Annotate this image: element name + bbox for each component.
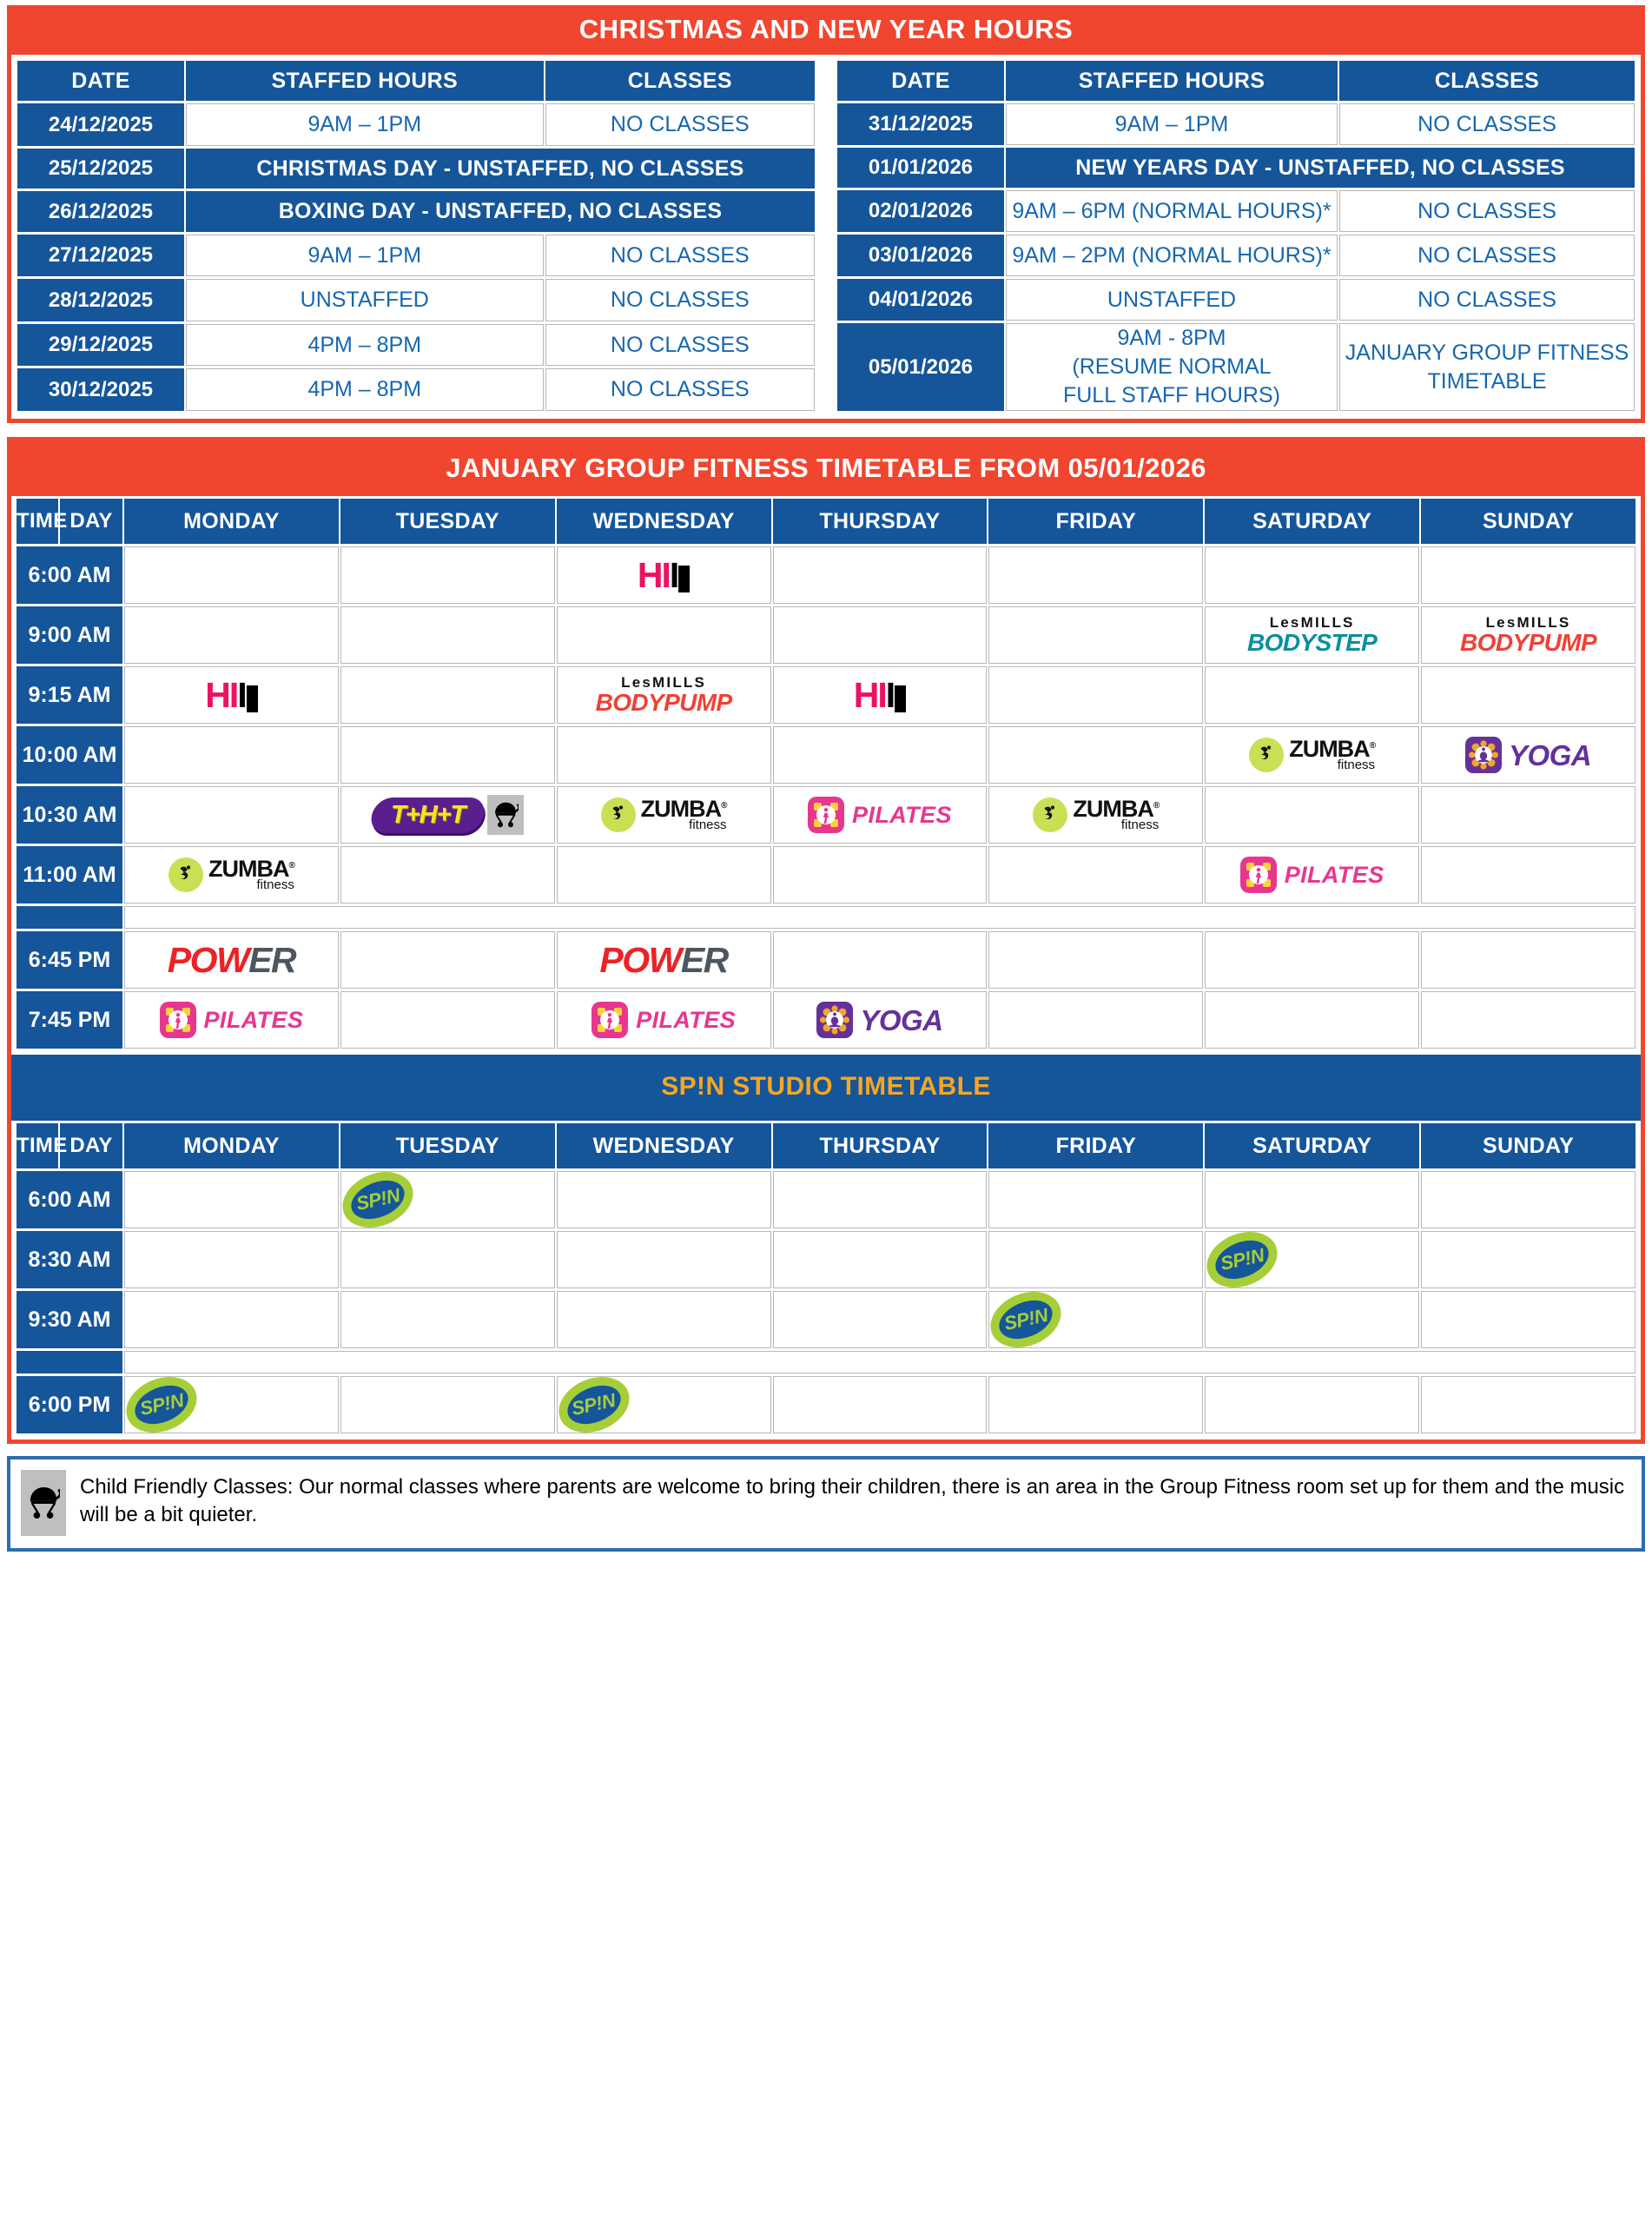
january-row: 9:00 AMLesMILLSBODYSTEPLesMILLSBODYPUMP (17, 606, 1635, 664)
cell-date: 03/01/2026 (837, 235, 1004, 276)
spin-row: 6:00 AMSP!N (17, 1171, 1635, 1228)
empty-cell-wednesday (557, 1291, 771, 1348)
hiit-logo: HII (638, 558, 690, 593)
pilates-logo: PILATES (558, 1002, 770, 1038)
tht-wordmark: T+H+T (391, 803, 465, 828)
empty-cell-monday (124, 786, 339, 844)
empty-cell-wednesday (557, 606, 771, 664)
cell-staffed-hours: UNSTAFFED (186, 279, 544, 321)
pilates-logo: PILATES (774, 797, 987, 833)
empty-cell-wednesday (557, 726, 771, 784)
hiit-logo-text-a: HI (854, 678, 886, 713)
cell-date: 27/12/2025 (17, 235, 184, 277)
yoga-mark-icon (1465, 737, 1502, 773)
spin-row: 8:30 AMSP!N (17, 1231, 1635, 1288)
class-cell-tuesday[interactable]: T+H+T (340, 786, 555, 844)
empty-cell-saturday (1205, 666, 1419, 724)
col-header-friday: FRIDAY (988, 1123, 1203, 1168)
cell-date: 02/01/2026 (837, 190, 1004, 232)
empty-cell-friday (988, 931, 1203, 989)
spin-logo: SP!N (558, 1379, 631, 1431)
pram-icon (21, 1470, 66, 1536)
empty-cell-monday (124, 1171, 339, 1228)
empty-cell-monday (124, 546, 339, 604)
bodypump-wordmark: BODYPUMP (596, 691, 732, 715)
spin-banner-title: SP!N STUDIO TIMETABLE (11, 1055, 1641, 1121)
lesmills-bodypump-logo: LesMILLSBODYPUMP (558, 675, 770, 715)
class-cell-thursday[interactable]: YOGA (773, 991, 988, 1049)
zumba-fitness-logo: ZUMBA®fitness (1206, 738, 1418, 772)
class-cell-friday[interactable]: ZUMBA®fitness (988, 786, 1203, 844)
table-header-row: DATESTAFFED HOURSCLASSES (837, 61, 1635, 101)
zumba-mark-icon (601, 798, 636, 832)
class-cell-saturday[interactable]: SP!N (1205, 1231, 1419, 1288)
empty-cell-tuesday (340, 1231, 555, 1288)
zumba-mark-icon (169, 857, 203, 892)
empty-cell-tuesday (340, 991, 555, 1049)
january-header-row: TIMEDAYMONDAYTUESDAYWEDNESDAYTHURSDAYFRI… (17, 499, 1635, 544)
january-row: 10:30 AMT+H+TZUMBA®fitnessPILATESZUMBA®f… (17, 786, 1635, 844)
pilates-wordmark: PILATES (636, 1009, 736, 1032)
january-row: 6:00 AMHII (17, 546, 1635, 604)
spacer-cells (124, 906, 1635, 929)
zumba-subtext: fitness (1338, 759, 1375, 771)
cell-staffed-hours: 9AM – 1PM (186, 235, 544, 277)
empty-cell-thursday (773, 931, 988, 989)
cell-time: 9:00 AM (17, 606, 122, 664)
empty-cell-sunday (1421, 786, 1635, 844)
table-row: 25/12/2025CHRISTMAS DAY - UNSTAFFED, NO … (17, 149, 815, 189)
pilates-wordmark: PILATES (1285, 864, 1384, 887)
cell-full-notice: NEW YEARS DAY - UNSTAFFED, NO CLASSES (1006, 148, 1635, 188)
empty-cell-tuesday (340, 846, 555, 903)
empty-cell-tuesday (340, 1376, 555, 1433)
empty-cell-tuesday (340, 666, 555, 724)
pilates-mark-icon (591, 1002, 628, 1038)
cell-time: 10:30 AM (17, 786, 122, 844)
pilates-mark-icon (160, 1002, 196, 1038)
hiit-logo: HII (854, 678, 906, 713)
table-row: 04/01/2026UNSTAFFEDNO CLASSES (837, 279, 1635, 321)
table-row: 30/12/20254PM – 8PMNO CLASSES (17, 368, 815, 411)
empty-cell-sunday (1421, 666, 1635, 724)
col-header-sunday: SUNDAY (1421, 1123, 1635, 1168)
class-cell-monday[interactable]: POWER (124, 931, 339, 989)
table-row: 24/12/20259AM – 1PMNO CLASSES (17, 103, 815, 146)
spacer-cells (124, 1351, 1635, 1373)
empty-cell-tuesday (340, 606, 555, 664)
class-cell-wednesday[interactable]: PILATES (557, 991, 771, 1049)
empty-cell-sunday (1421, 1171, 1635, 1228)
cell-classes: JANUARY GROUP FITNESSTIMETABLE (1339, 323, 1635, 411)
january-row: 6:45 PMPOWERPOWER (17, 931, 1635, 989)
class-cell-sunday[interactable]: YOGA (1421, 726, 1635, 784)
cell-staffed-hours: 9AM - 8PM(RESUME NORMALFULL STAFF HOURS) (1006, 323, 1338, 411)
cell-date: 01/01/2026 (837, 148, 1004, 188)
child-friendly-note: Child Friendly Classes: Our normal class… (7, 1456, 1645, 1552)
january-timetable-section: JANUARY GROUP FITNESS TIMETABLE FROM 05/… (7, 437, 1645, 1444)
cell-staffed-hours: 9AM – 1PM (1006, 103, 1338, 145)
pilates-mark-icon (1240, 857, 1277, 893)
col-header-tuesday: TUESDAY (340, 1123, 555, 1168)
empty-cell-thursday (773, 726, 988, 784)
cell-time: 10:00 AM (17, 726, 122, 784)
hiit-logo-bar (895, 685, 906, 712)
table-row: 27/12/20259AM – 1PMNO CLASSES (17, 235, 815, 277)
pilates-logo: PILATES (125, 1002, 338, 1038)
cell-staffed-hours: 9AM – 6PM (NORMAL HOURS)* (1006, 190, 1338, 232)
cell-classes: NO CLASSES (545, 235, 815, 277)
lesmills-bodystep-logo: LesMILLSBODYSTEP (1206, 615, 1418, 655)
empty-cell-saturday (1205, 1376, 1419, 1433)
class-cell-wednesday[interactable]: HII (557, 546, 771, 604)
cell-staffed-hours: 4PM – 8PM (186, 324, 544, 367)
class-cell-saturday[interactable]: LesMILLSBODYSTEP (1205, 606, 1419, 664)
col-header-friday: FRIDAY (988, 499, 1203, 544)
col-header-date: DATE (17, 61, 184, 101)
cell-classes: NO CLASSES (1339, 235, 1635, 276)
col-header-saturday: SATURDAY (1205, 1123, 1419, 1168)
hiit-logo-text-a: HI (205, 678, 237, 713)
cell-time: 11:00 AM (17, 846, 122, 903)
empty-cell-sunday (1421, 991, 1635, 1049)
cell-date: 29/12/2025 (17, 324, 184, 367)
empty-cell-wednesday (557, 1231, 771, 1288)
empty-cell-saturday (1205, 931, 1419, 989)
col-header-staffed-hours: STAFFED HOURS (1006, 61, 1338, 101)
col-header-tuesday: TUESDAY (340, 499, 555, 544)
pilates-logo: PILATES (1206, 857, 1418, 893)
christmas-banner-title: CHRISTMAS AND NEW YEAR HOURS (11, 5, 1641, 55)
zumba-fitness-logo: ZUMBA®fitness (125, 857, 338, 892)
spin-spacer-row (17, 1351, 1635, 1373)
cell-staffed-hours: UNSTAFFED (1006, 279, 1338, 321)
class-cell-monday[interactable]: HII (124, 666, 339, 724)
class-cell-saturday[interactable]: ZUMBA®fitness (1205, 726, 1419, 784)
tht-logo: T+H+T (367, 798, 487, 833)
table-row: 05/01/20269AM - 8PM(RESUME NORMALFULL ST… (837, 323, 1635, 411)
class-cell-wednesday[interactable]: ZUMBA®fitness (557, 786, 771, 844)
col-header-wednesday: WEDNESDAY (557, 499, 771, 544)
class-cell-wednesday[interactable]: SP!N (557, 1376, 771, 1433)
empty-cell-thursday (773, 1376, 988, 1433)
table-row: 31/12/20259AM – 1PMNO CLASSES (837, 103, 1635, 145)
empty-cell-saturday (1205, 991, 1419, 1049)
spin-logo: SP!N (989, 1294, 1062, 1346)
yoga-logo: YOGA (774, 1002, 987, 1038)
cell-classes: NO CLASSES (1339, 279, 1635, 321)
table-row: 01/01/2026NEW YEARS DAY - UNSTAFFED, NO … (837, 148, 1635, 188)
spacer-time (17, 906, 122, 929)
empty-cell-friday (988, 606, 1203, 664)
col-header-thursday: THURSDAY (773, 499, 988, 544)
zumba-fitness-logo: ZUMBA®fitness (558, 798, 770, 832)
col-header-time: TIME (17, 499, 58, 544)
empty-cell-sunday (1421, 546, 1635, 604)
yoga-wordmark: YOGA (1509, 741, 1591, 770)
yoga-wordmark: YOGA (860, 1006, 942, 1035)
cell-date: 31/12/2025 (837, 103, 1004, 145)
cell-classes: NO CLASSES (545, 279, 815, 321)
cell-date: 24/12/2025 (17, 103, 184, 146)
empty-cell-tuesday (340, 546, 555, 604)
january-banner-title: JANUARY GROUP FITNESS TIMETABLE FROM 05/… (11, 441, 1641, 496)
hiit-logo-text-b: I (237, 678, 245, 713)
hiit-logo-text-b: I (886, 678, 894, 713)
empty-cell-thursday (773, 546, 988, 604)
empty-cell-tuesday (340, 1291, 555, 1348)
cell-classes: NO CLASSES (1339, 103, 1635, 145)
cell-date: 28/12/2025 (17, 279, 184, 321)
empty-cell-saturday (1205, 786, 1419, 844)
lesmills-bodypump-logo: LesMILLSBODYPUMP (1422, 615, 1635, 655)
empty-cell-monday (124, 726, 339, 784)
timetable-poster: CHRISTMAS AND NEW YEAR HOURS DATESTAFFED… (0, 5, 1652, 1552)
pilates-mark-icon (808, 797, 844, 833)
cell-date: 05/01/2026 (837, 323, 1004, 411)
january-spacer-row (17, 906, 1635, 929)
cell-staffed-hours: 9AM – 1PM (186, 103, 544, 146)
spin-row: 6:00 PMSP!NSP!N (17, 1376, 1635, 1433)
child-friendly-text: Child Friendly Classes: Our normal class… (80, 1470, 1629, 1530)
cell-classes: NO CLASSES (1339, 190, 1635, 232)
col-header-thursday: THURSDAY (773, 1123, 988, 1168)
col-header-classes: CLASSES (545, 61, 815, 101)
january-row: 7:45 PMPILATESPILATESYOGA (17, 991, 1635, 1049)
yoga-mark-icon (816, 1002, 853, 1038)
empty-cell-thursday (773, 1171, 988, 1228)
zumba-subtext: fitness (689, 819, 726, 831)
cell-time: 6:00 AM (17, 546, 122, 604)
power-wordmark-a: POW (168, 943, 248, 978)
cell-time: 8:30 AM (17, 1231, 122, 1288)
empty-cell-sunday (1421, 1376, 1635, 1433)
col-header-sunday: SUNDAY (1421, 499, 1635, 544)
class-cell-sunday[interactable]: LesMILLSBODYPUMP (1421, 606, 1635, 664)
col-header-saturday: SATURDAY (1205, 499, 1419, 544)
empty-cell-monday (124, 1291, 339, 1348)
cell-time: 9:15 AM (17, 666, 122, 724)
empty-cell-thursday (773, 1291, 988, 1348)
lesmills-wordmark: LesMILLS (621, 675, 706, 690)
christmas-table-left: DATESTAFFED HOURSCLASSES24/12/20259AM – … (16, 58, 816, 414)
col-header-staffed-hours: STAFFED HOURS (186, 61, 544, 101)
cell-date: 30/12/2025 (17, 368, 184, 411)
empty-cell-friday (988, 726, 1203, 784)
col-header-wednesday: WEDNESDAY (557, 1123, 771, 1168)
cell-staffed-hours: 4PM – 8PM (186, 368, 544, 411)
empty-cell-saturday (1205, 1291, 1419, 1348)
hiit-logo-text-a: HI (638, 558, 670, 593)
spin-header-row: TIMEDAYMONDAYTUESDAYWEDNESDAYTHURSDAYFRI… (17, 1123, 1635, 1168)
cell-time: 6:45 PM (17, 931, 122, 989)
spacer-time (17, 1351, 122, 1373)
spin-timetable-grid: TIMEDAYMONDAYTUESDAYWEDNESDAYTHURSDAYFRI… (11, 1121, 1641, 1440)
empty-cell-wednesday (557, 1171, 771, 1228)
pilates-wordmark: PILATES (204, 1009, 304, 1032)
empty-cell-sunday (1421, 931, 1635, 989)
christmas-table-right: DATESTAFFED HOURSCLASSES31/12/20259AM – … (836, 58, 1636, 414)
cell-staffed-hours: 9AM – 2PM (NORMAL HOURS)* (1006, 235, 1338, 276)
cell-classes: NO CLASSES (545, 324, 815, 367)
empty-cell-friday (988, 1171, 1203, 1228)
table-row: 26/12/2025BOXING DAY - UNSTAFFED, NO CLA… (17, 191, 815, 231)
spin-logo: SP!N (1206, 1234, 1279, 1286)
empty-cell-tuesday (340, 726, 555, 784)
zumba-mark-icon (1249, 738, 1284, 772)
yoga-logo: YOGA (1422, 737, 1635, 773)
class-cell-tuesday[interactable]: SP!N (340, 1171, 555, 1228)
empty-cell-friday (988, 1231, 1203, 1288)
spin-logo: SP!N (125, 1379, 198, 1431)
empty-cell-saturday (1205, 546, 1419, 604)
cell-classes: NO CLASSES (545, 103, 815, 146)
class-cell-wednesday[interactable]: LesMILLSBODYPUMP (557, 666, 771, 724)
january-row: 11:00 AMZUMBA®fitnessPILATES (17, 846, 1635, 903)
lesmills-wordmark: LesMILLS (1486, 615, 1571, 630)
empty-cell-sunday (1421, 846, 1635, 903)
empty-cell-friday (988, 1376, 1203, 1433)
empty-cell-thursday (773, 846, 988, 903)
power-logo: POWER (168, 943, 295, 978)
table-header-row: DATESTAFFED HOURSCLASSES (17, 61, 815, 101)
hiit-logo-text-b: I (670, 558, 677, 593)
empty-cell-sunday (1421, 1291, 1635, 1348)
col-header-monday: MONDAY (124, 499, 339, 544)
zumba-fitness-logo: ZUMBA®fitness (989, 798, 1202, 832)
zumba-subtext: fitness (1121, 819, 1159, 831)
cell-time: 7:45 PM (17, 991, 122, 1049)
spin-row: 9:30 AMSP!N (17, 1291, 1635, 1348)
empty-cell-friday (988, 991, 1203, 1049)
empty-cell-friday (988, 846, 1203, 903)
bodystep-wordmark: BODYSTEP (1247, 631, 1377, 655)
col-header-monday: MONDAY (124, 1123, 339, 1168)
january-timetable-grid: TIMEDAYMONDAYTUESDAYWEDNESDAYTHURSDAYFRI… (11, 496, 1641, 1055)
empty-cell-friday (988, 666, 1203, 724)
col-header-day: DAY (60, 499, 122, 544)
empty-cell-thursday (773, 1231, 988, 1288)
cell-classes: NO CLASSES (545, 368, 815, 411)
tht-child-friendly-cell: T+H+T (341, 795, 554, 835)
january-row: 9:15 AMHIILesMILLSBODYPUMPHII (17, 666, 1635, 724)
power-wordmark-b: ER (248, 943, 295, 978)
zumba-mark-icon (1033, 798, 1067, 832)
cell-full-notice: BOXING DAY - UNSTAFFED, NO CLASSES (186, 191, 815, 231)
class-cell-monday[interactable]: PILATES (124, 991, 339, 1049)
class-cell-monday[interactable]: SP!N (124, 1376, 339, 1433)
table-row: 29/12/20254PM – 8PMNO CLASSES (17, 324, 815, 367)
empty-cell-wednesday (557, 846, 771, 903)
cell-date: 04/01/2026 (837, 279, 1004, 321)
col-header-classes: CLASSES (1339, 61, 1635, 101)
table-row: 03/01/20269AM – 2PM (NORMAL HOURS)*NO CL… (837, 235, 1635, 276)
class-cell-friday[interactable]: SP!N (988, 1291, 1203, 1348)
class-cell-saturday[interactable]: PILATES (1205, 846, 1419, 903)
spin-logo: SP!N (341, 1174, 414, 1226)
class-cell-thursday[interactable]: PILATES (773, 786, 988, 844)
cell-time: 6:00 PM (17, 1376, 122, 1433)
table-row: 28/12/2025UNSTAFFEDNO CLASSES (17, 279, 815, 321)
zumba-subtext: fitness (256, 879, 294, 891)
power-wordmark-a: POW (599, 943, 680, 978)
bodypump-wordmark: BODYPUMP (1460, 631, 1596, 655)
cell-date: 26/12/2025 (17, 191, 184, 231)
hiit-logo-bar (678, 566, 690, 592)
pram-icon (487, 795, 524, 835)
cell-time: 9:30 AM (17, 1291, 122, 1348)
power-logo: POWER (599, 943, 727, 978)
table-row: 02/01/20269AM – 6PM (NORMAL HOURS)*NO CL… (837, 190, 1635, 232)
cell-date: 25/12/2025 (17, 149, 184, 189)
empty-cell-tuesday (340, 931, 555, 989)
col-header-date: DATE (837, 61, 1004, 101)
col-header-time: TIME (17, 1123, 58, 1168)
january-row: 10:00 AMZUMBA®fitnessYOGA (17, 726, 1635, 784)
empty-cell-friday (988, 546, 1203, 604)
lesmills-wordmark: LesMILLS (1270, 615, 1355, 630)
class-cell-thursday[interactable]: HII (773, 666, 988, 724)
class-cell-wednesday[interactable]: POWER (557, 931, 771, 989)
cell-full-notice: CHRISTMAS DAY - UNSTAFFED, NO CLASSES (186, 149, 815, 189)
hiit-logo-bar (247, 685, 258, 712)
empty-cell-saturday (1205, 1171, 1419, 1228)
col-header-day: DAY (60, 1123, 122, 1168)
empty-cell-monday (124, 1231, 339, 1288)
hiit-logo: HII (205, 678, 257, 713)
power-wordmark-b: ER (681, 943, 728, 978)
empty-cell-sunday (1421, 1231, 1635, 1288)
class-cell-monday[interactable]: ZUMBA®fitness (124, 846, 339, 903)
empty-cell-monday (124, 606, 339, 664)
christmas-tables-wrapper: DATESTAFFED HOURSCLASSES24/12/20259AM – … (11, 55, 1641, 419)
cell-time: 6:00 AM (17, 1171, 122, 1228)
pilates-wordmark: PILATES (852, 804, 952, 827)
empty-cell-thursday (773, 606, 988, 664)
christmas-hours-section: CHRISTMAS AND NEW YEAR HOURS DATESTAFFED… (7, 5, 1645, 423)
